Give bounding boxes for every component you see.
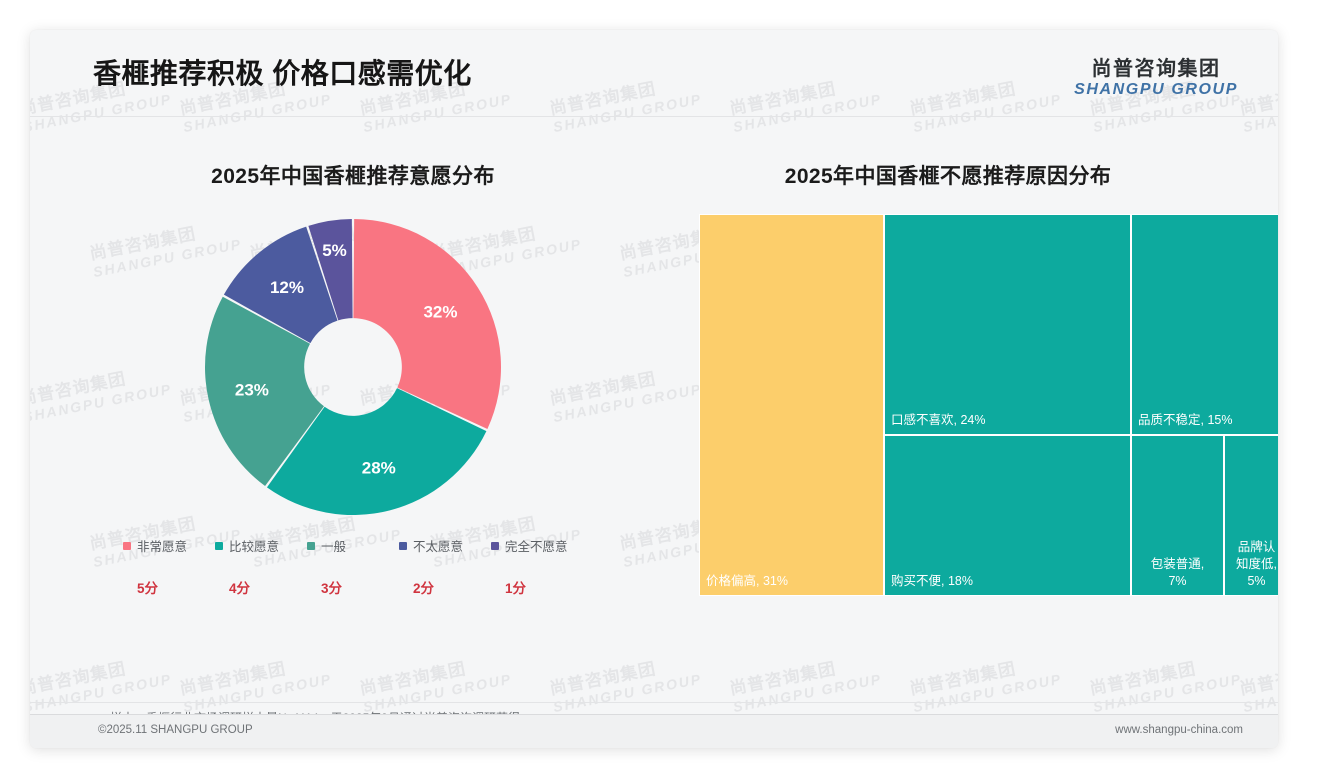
treemap-cell-label: 品质不稳定, 15% — [1138, 412, 1232, 429]
treemap-cell[interactable]: 包装普通,7% — [1131, 435, 1224, 596]
legend-score-label: 3分 — [307, 577, 399, 597]
treemap-cell[interactable]: 口感不喜欢, 24% — [884, 214, 1131, 435]
brand-logo: 尚普咨询集团 SHANGPU GROUP — [1074, 58, 1238, 99]
legend-item[interactable]: 比较愿意 — [215, 536, 307, 555]
legend-item-label: 比较愿意 — [229, 536, 279, 555]
legend-swatch-icon — [123, 542, 131, 550]
right-chart-title: 2025年中国香榧不愿推荐原因分布 — [648, 160, 1248, 190]
treemap-cell-label: 包装普通,7% — [1132, 556, 1223, 590]
donut-slice-value: 28% — [362, 458, 396, 477]
treemap-cell-label: 品牌认知度低,5% — [1225, 539, 1278, 590]
legend-item-label: 非常愿意 — [137, 536, 187, 555]
legend-score-label: 4分 — [215, 577, 307, 597]
logo-english-name: SHANGPU GROUP — [1074, 81, 1238, 99]
treemap-cell[interactable]: 品牌认知度低,5% — [1224, 435, 1278, 596]
donut-chart-svg: 32%28%23%12%5% — [173, 202, 533, 532]
legend-swatch-icon — [215, 542, 223, 550]
legend-item[interactable]: 完全不愿意 — [491, 536, 583, 555]
treemap-cell[interactable]: 购买不便, 18% — [884, 435, 1131, 596]
legend-item-label: 不太愿意 — [413, 536, 463, 555]
legend-item-label: 完全不愿意 — [505, 536, 568, 555]
treemap-cell-label: 价格偏高, 31% — [706, 573, 788, 590]
legend-score-label: 2分 — [399, 577, 491, 597]
donut-slice[interactable] — [353, 219, 501, 429]
treemap-cell-label: 购买不便, 18% — [891, 573, 973, 590]
legend-item[interactable]: 不太愿意 — [399, 536, 491, 555]
website-link[interactable]: www.shangpu-china.com — [1115, 724, 1243, 736]
donut-slice-value: 12% — [270, 278, 304, 297]
slide-footer: ©2025.11 SHANGPU GROUP www.shangpu-china… — [30, 714, 1278, 748]
treemap-cell[interactable]: 价格偏高, 31% — [699, 214, 884, 596]
donut-slice-value: 32% — [423, 302, 457, 321]
legend-swatch-icon — [307, 542, 315, 550]
legend-swatch-icon — [399, 542, 407, 550]
treemap-cell[interactable]: 品质不稳定, 15% — [1131, 214, 1278, 435]
legend-item[interactable]: 一般 — [307, 536, 399, 555]
legend-item-label: 一般 — [321, 536, 346, 555]
donut-slice-value: 23% — [235, 381, 269, 400]
slide-body: 2025年中国香榧推荐意愿分布 32%28%23%12%5% 非常愿意比较愿意一… — [30, 117, 1278, 717]
copyright-text: ©2025.11 SHANGPU GROUP — [98, 724, 253, 736]
legend-score-label: 5分 — [123, 577, 215, 597]
panel-unwillingness-reasons: 2025年中国香榧不愿推荐原因分布 价格偏高, 31%口感不喜欢, 24%购买不… — [648, 117, 1248, 596]
treemap-chart: 价格偏高, 31%口感不喜欢, 24%购买不便, 18%品质不稳定, 15%包装… — [699, 214, 1278, 596]
legend-score-label: 1分 — [491, 577, 583, 597]
legend-item[interactable]: 非常愿意 — [123, 536, 215, 555]
logo-chinese-name: 尚普咨询集团 — [1074, 58, 1238, 81]
slide-header: 香榧推荐积极 价格口感需优化 尚普咨询集团 SHANGPU GROUP — [30, 30, 1278, 117]
donut-slice-value: 5% — [322, 241, 347, 260]
panel-recommendation-willingness: 2025年中国香榧推荐意愿分布 32%28%23%12%5% 非常愿意比较愿意一… — [68, 117, 638, 597]
page-title: 香榧推荐积极 价格口感需优化 — [93, 52, 472, 92]
treemap-cell-label: 口感不喜欢, 24% — [891, 412, 985, 429]
slide-card: 尚普咨询集团SHANGPU GROUP尚普咨询集团SHANGPU GROUP尚普… — [30, 30, 1278, 748]
legend-swatch-icon — [491, 542, 499, 550]
left-chart-title: 2025年中国香榧推荐意愿分布 — [68, 160, 638, 190]
donut-chart: 32%28%23%12%5% — [68, 202, 638, 532]
donut-legend: 非常愿意比较愿意一般不太愿意完全不愿意 — [68, 536, 638, 555]
donut-score-row: 5分4分3分2分1分 — [68, 577, 638, 597]
